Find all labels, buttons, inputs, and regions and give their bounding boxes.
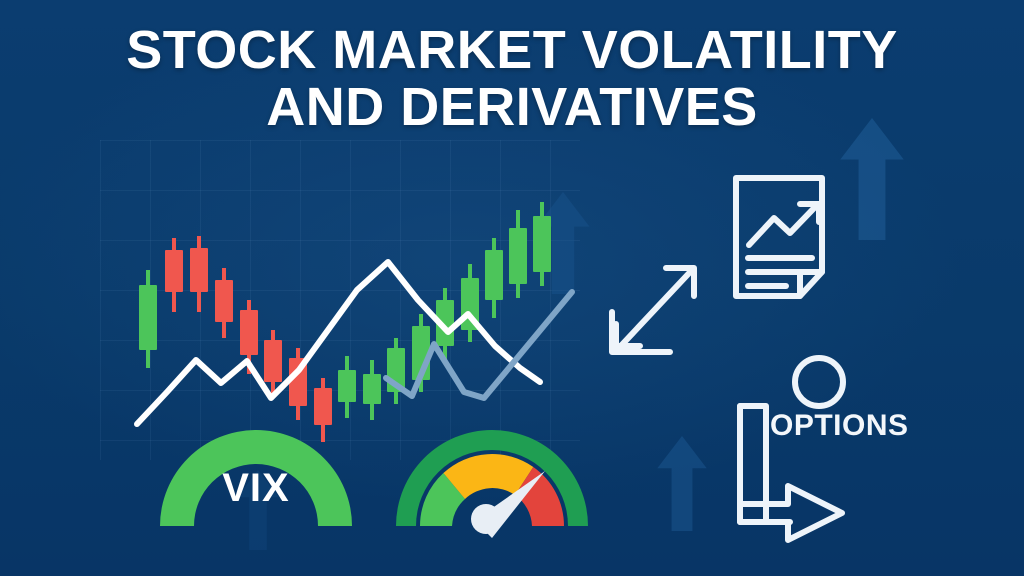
document-chart-icon [736,178,822,296]
page-title: STOCK MARKET VOLATILITY AND DERIVATIVES [0,22,1024,136]
infographic-canvas: STOCK MARKET VOLATILITY AND DERIVATIVES [0,0,1024,576]
title-line-1: STOCK MARKET VOLATILITY [0,22,1024,79]
title-line-2: AND DERIVATIVES [0,79,1024,136]
expand-diagonal-icon [612,268,694,352]
vix-gauge-label: VIX [196,466,316,510]
options-label: OPTIONS [770,409,909,443]
options-circle-icon [795,358,843,406]
